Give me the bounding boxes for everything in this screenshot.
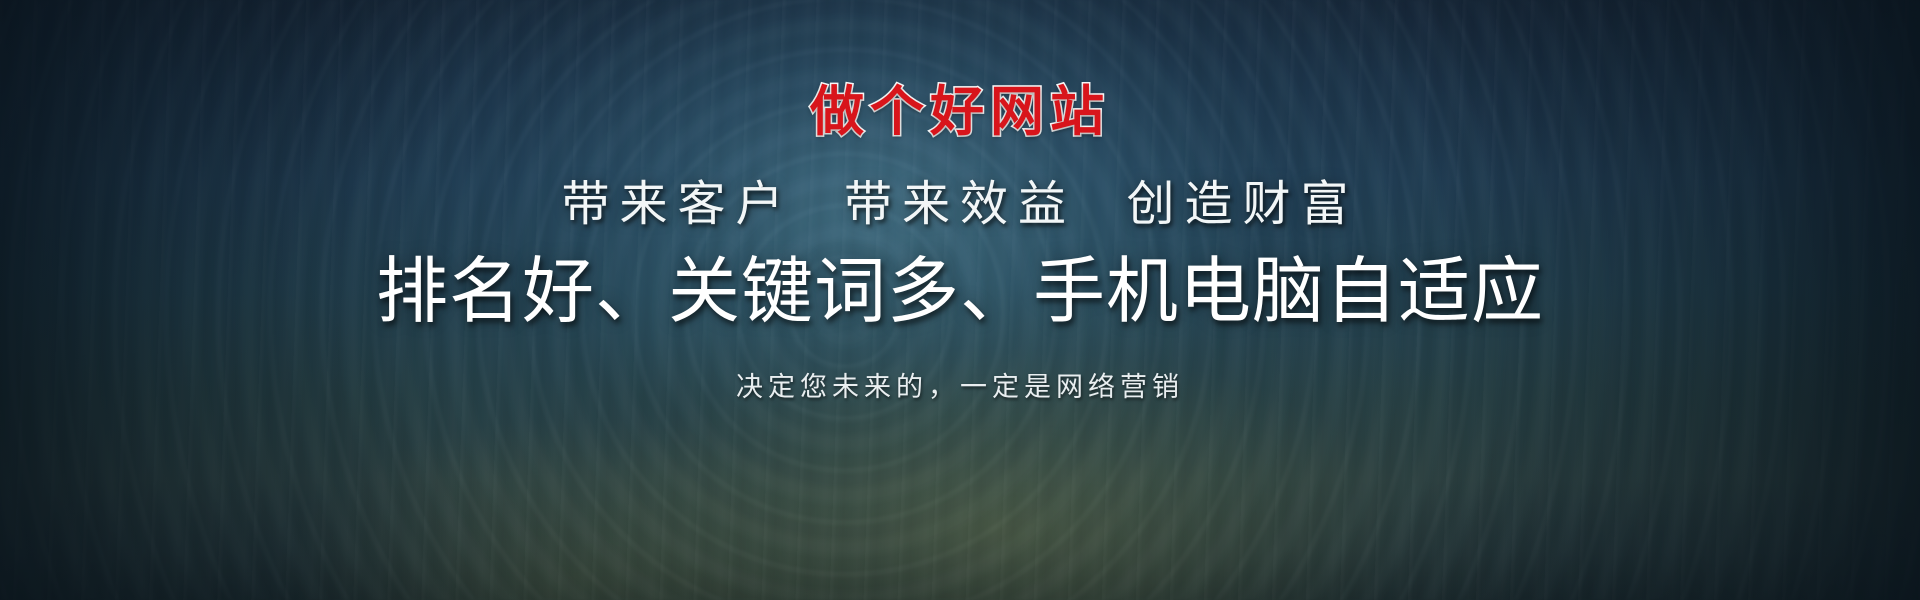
hero-banner: 做个好网站 带来客户 带来效益 创造财富 排名好、关键词多、手机电脑自适应 决定… [0,0,1920,600]
banner-subheadline: 带来客户 带来效益 创造财富 [561,180,1358,228]
banner-content: 做个好网站 带来客户 带来效益 创造财富 排名好、关键词多、手机电脑自适应 决定… [0,0,1920,600]
banner-features-line: 排名好、关键词多、手机电脑自适应 [376,254,1544,330]
banner-tagline: 决定您未来的，一定是网络营销 [736,374,1184,401]
banner-headline: 做个好网站 [810,84,1110,138]
